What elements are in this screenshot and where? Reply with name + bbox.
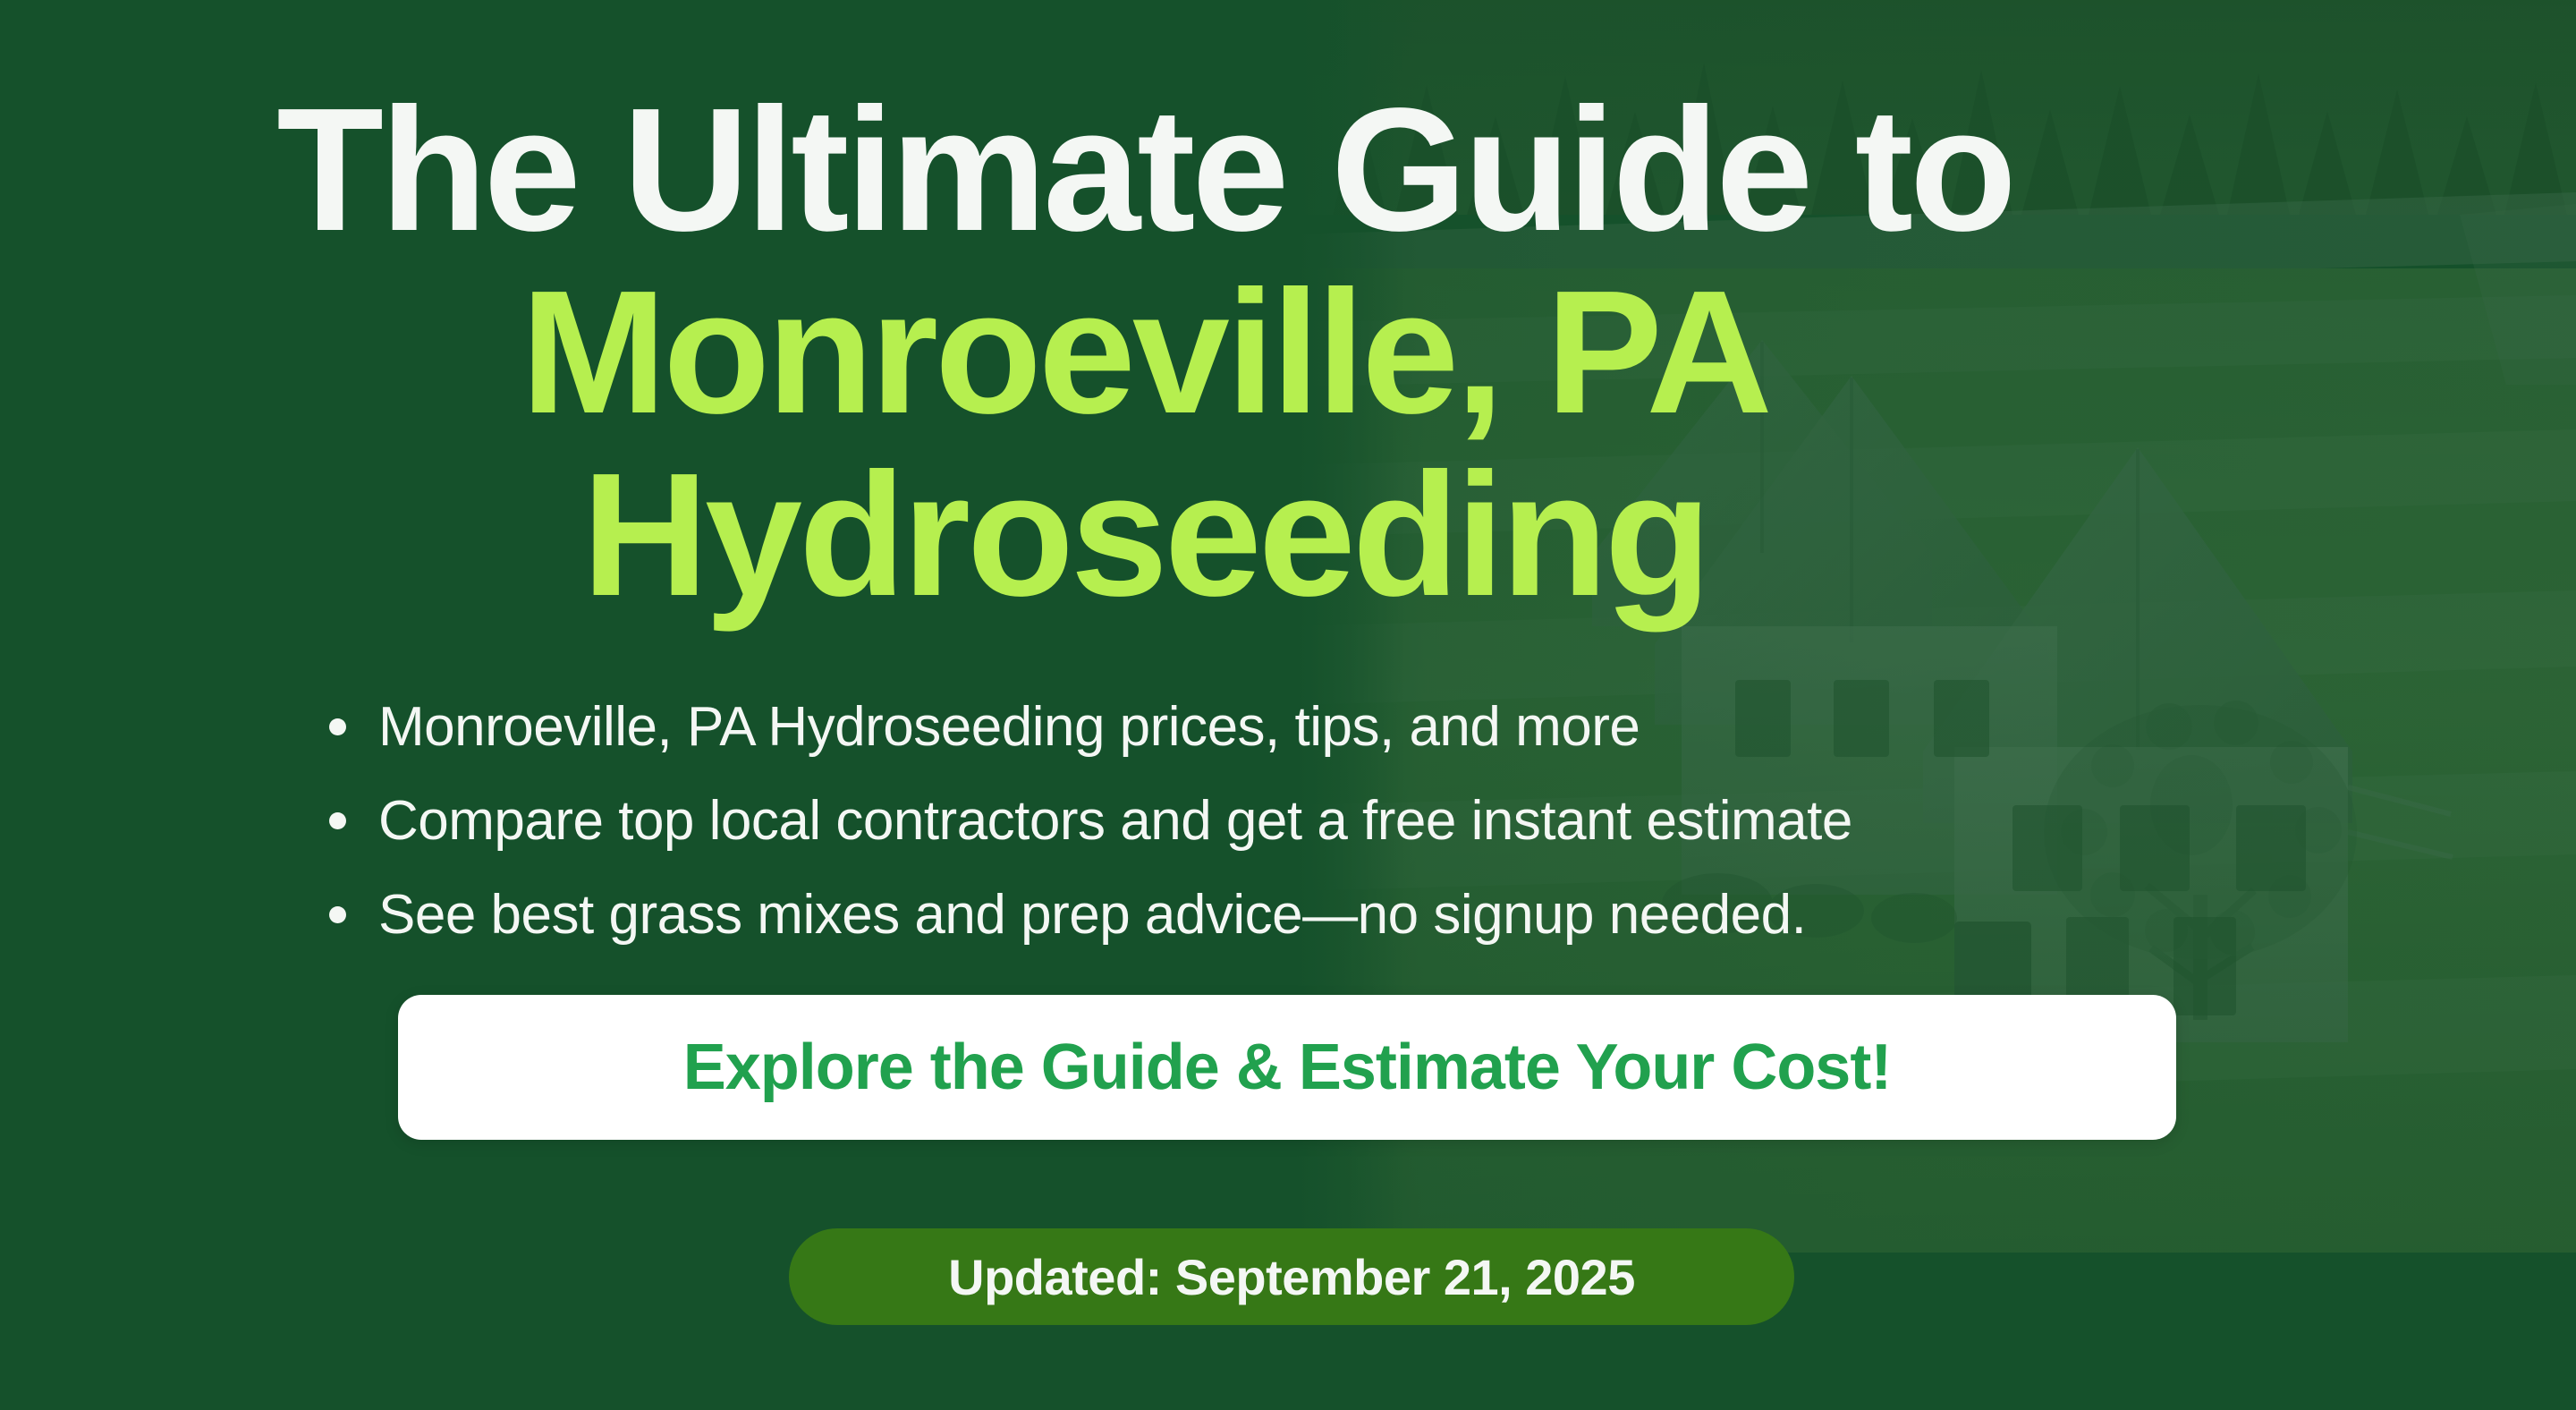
bullet-text: Compare top local contractors and get a … bbox=[378, 790, 1852, 852]
feature-bullet-list: Monroeville, PA Hydroseeding prices, tip… bbox=[322, 680, 2290, 962]
updated-badge-label: Updated: September 21, 2025 bbox=[948, 1248, 1635, 1306]
explore-guide-cta-button[interactable]: Explore the Guide & Estimate Your Cost! bbox=[398, 995, 2176, 1140]
bullet-dot-icon bbox=[329, 812, 346, 829]
cta-label: Explore the Guide & Estimate Your Cost! bbox=[683, 1031, 1892, 1104]
list-item: Monroeville, PA Hydroseeding prices, tip… bbox=[322, 680, 2290, 774]
bullet-text: Monroeville, PA Hydroseeding prices, tip… bbox=[378, 696, 1640, 758]
list-item: Compare top local contractors and get a … bbox=[322, 774, 2290, 868]
hero-banner: The Ultimate Guide to Monroeville, PA Hy… bbox=[0, 0, 2576, 1410]
list-item: See best grass mixes and prep advice—no … bbox=[322, 868, 2290, 962]
page-title: The Ultimate Guide to Monroeville, PA Hy… bbox=[0, 79, 2290, 625]
bullet-dot-icon bbox=[329, 718, 346, 735]
headline-line-2: Monroeville, PA bbox=[0, 261, 2290, 444]
headline-line-3: Hydroseeding bbox=[0, 444, 2290, 626]
bullet-text: See best grass mixes and prep advice—no … bbox=[378, 884, 1806, 946]
updated-status-badge: Updated: September 21, 2025 bbox=[789, 1228, 1794, 1325]
headline-line-1: The Ultimate Guide to bbox=[0, 79, 2290, 261]
banner-content: The Ultimate Guide to Monroeville, PA Hy… bbox=[0, 0, 2576, 1410]
bullet-dot-icon bbox=[329, 906, 346, 923]
